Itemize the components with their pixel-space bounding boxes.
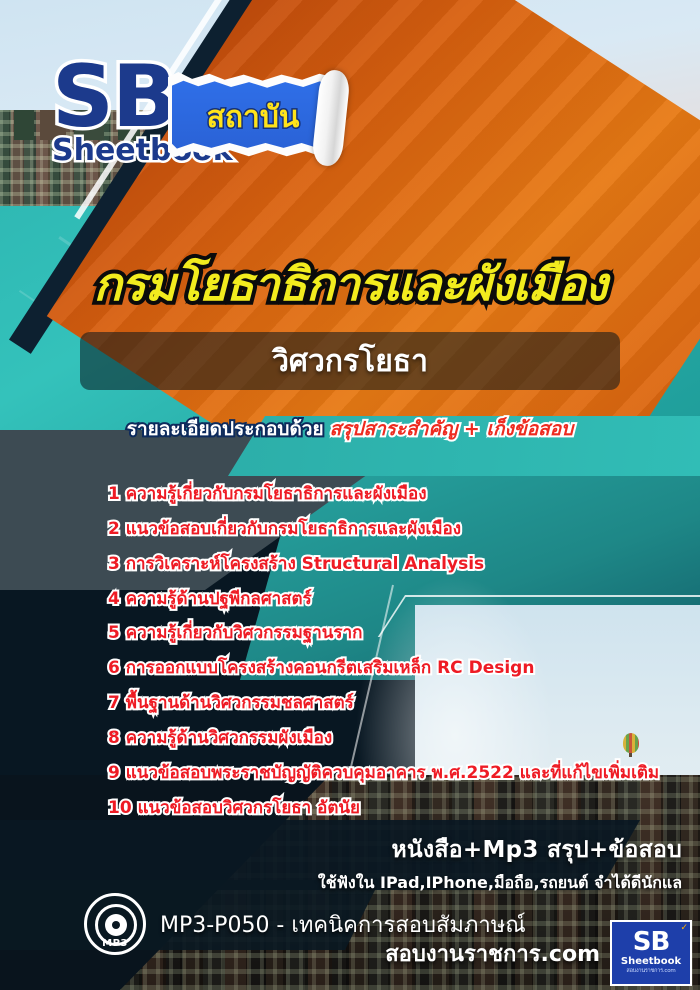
position-title: วิศวกรโยธา (272, 338, 428, 385)
badge-url: สอบงานราชการ.com (626, 967, 675, 975)
mp3-hub-hole (112, 921, 120, 929)
sheetbook-badge: ✓ SB Sheetbook สอบงานราชการ.com (610, 920, 692, 986)
promo-line-1: หนังสือ+Mp3 สรุป+ข้อสอบ (252, 832, 682, 868)
book-cover: SB Sheetbook สถาบัน กรมโยธาธิการและผังเม… (0, 0, 700, 990)
check-icon: ✓ (680, 923, 688, 933)
torn-paper-banner: สถาบัน (168, 78, 340, 150)
list-item: 7 พื้นฐานด้านวิศวกรรมชลศาสตร์ (108, 695, 688, 713)
list-item: 5 ความรู้เกี่ยวกับวิศวกรรมฐานราก (108, 625, 688, 643)
contents-list: 1 ความรู้เกี่ยวกับกรมโยธาธิการและผังเมือ… (108, 486, 688, 834)
position-title-plate: วิศวกรโยธา (80, 332, 620, 390)
list-item: 4 ความรู้ด้านปฐพีกลศาสตร์ (108, 591, 688, 609)
list-item: 3 การวิเคราะห์โครงสร้าง Structural Analy… (108, 556, 688, 574)
mp3-disc-icon: MP3 (84, 893, 146, 955)
torn-banner-label: สถาบัน (178, 94, 328, 141)
detail-highlight: สรุปสาระสำคัญ + เก็งข้อสอบ (330, 418, 574, 440)
list-item: 9 แนวข้อสอบพระราชบัญญัติควบคุมอาคาร พ.ศ.… (108, 765, 688, 783)
list-item: 10 แนวข้อสอบวิศวกรโยธา อัตนัย (108, 800, 688, 818)
promo-block: หนังสือ+Mp3 สรุป+ข้อสอบ ใช้ฟังใน IPad,IP… (252, 832, 682, 896)
mp3-disc-label: MP3 (87, 938, 143, 949)
page-title: กรมโยธาธิการและผังเมือง (0, 248, 700, 321)
detail-line: รายละเอียดประกอบด้วยสรุปสาระสำคัญ + เก็ง… (0, 414, 700, 444)
list-item: 1 ความรู้เกี่ยวกับกรมโยธาธิการและผังเมือ… (108, 486, 688, 504)
badge-initials: SB (633, 931, 670, 954)
detail-prefix: รายละเอียดประกอบด้วย (127, 418, 324, 440)
site-url: สอบงานราชการ.com (385, 936, 600, 971)
list-item: 2 แนวข้อสอบเกี่ยวกับกรมโยธาธิการและผังเม… (108, 521, 688, 539)
list-item: 6 การออกแบบโครงสร้างคอนกรีตเสริมเหล็ก RC… (108, 660, 688, 678)
badge-wordmark: Sheetbook (621, 956, 681, 967)
list-item: 8 ความรู้ด้านวิศวกรรมผังเมือง (108, 730, 688, 748)
